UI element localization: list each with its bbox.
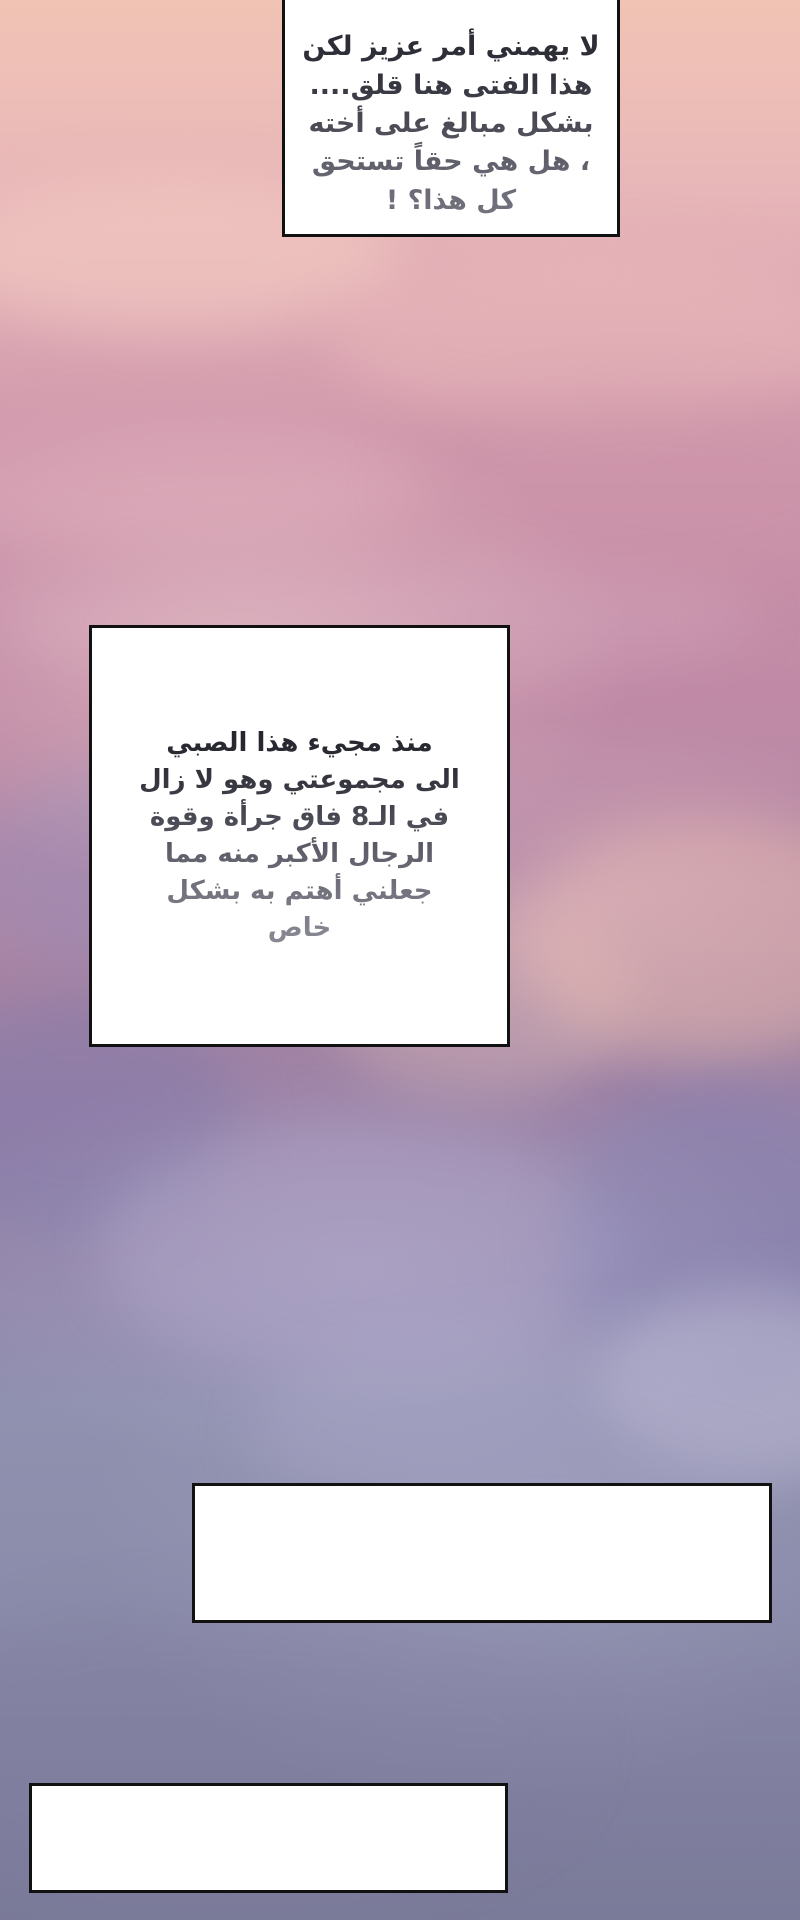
comic-page: لا يهمني أمر عزيز لكن هذا الفتى هنا قلق.… [0, 0, 800, 1920]
dialogue-box-2: منذ مجيء هذا الصبي الى مجموعتي وهو لا زا… [89, 625, 510, 1047]
dialogue-text-2: منذ مجيء هذا الصبي الى مجموعتي وهو لا زا… [129, 725, 470, 946]
dialogue-box-4-empty [29, 1783, 508, 1893]
dialogue-text-1: لا يهمني أمر عزيز لكن هذا الفتى هنا قلق.… [292, 28, 609, 220]
dialogue-box-1: لا يهمني أمر عزيز لكن هذا الفتى هنا قلق.… [282, 0, 620, 237]
dialogue-box-3-empty [192, 1483, 772, 1623]
